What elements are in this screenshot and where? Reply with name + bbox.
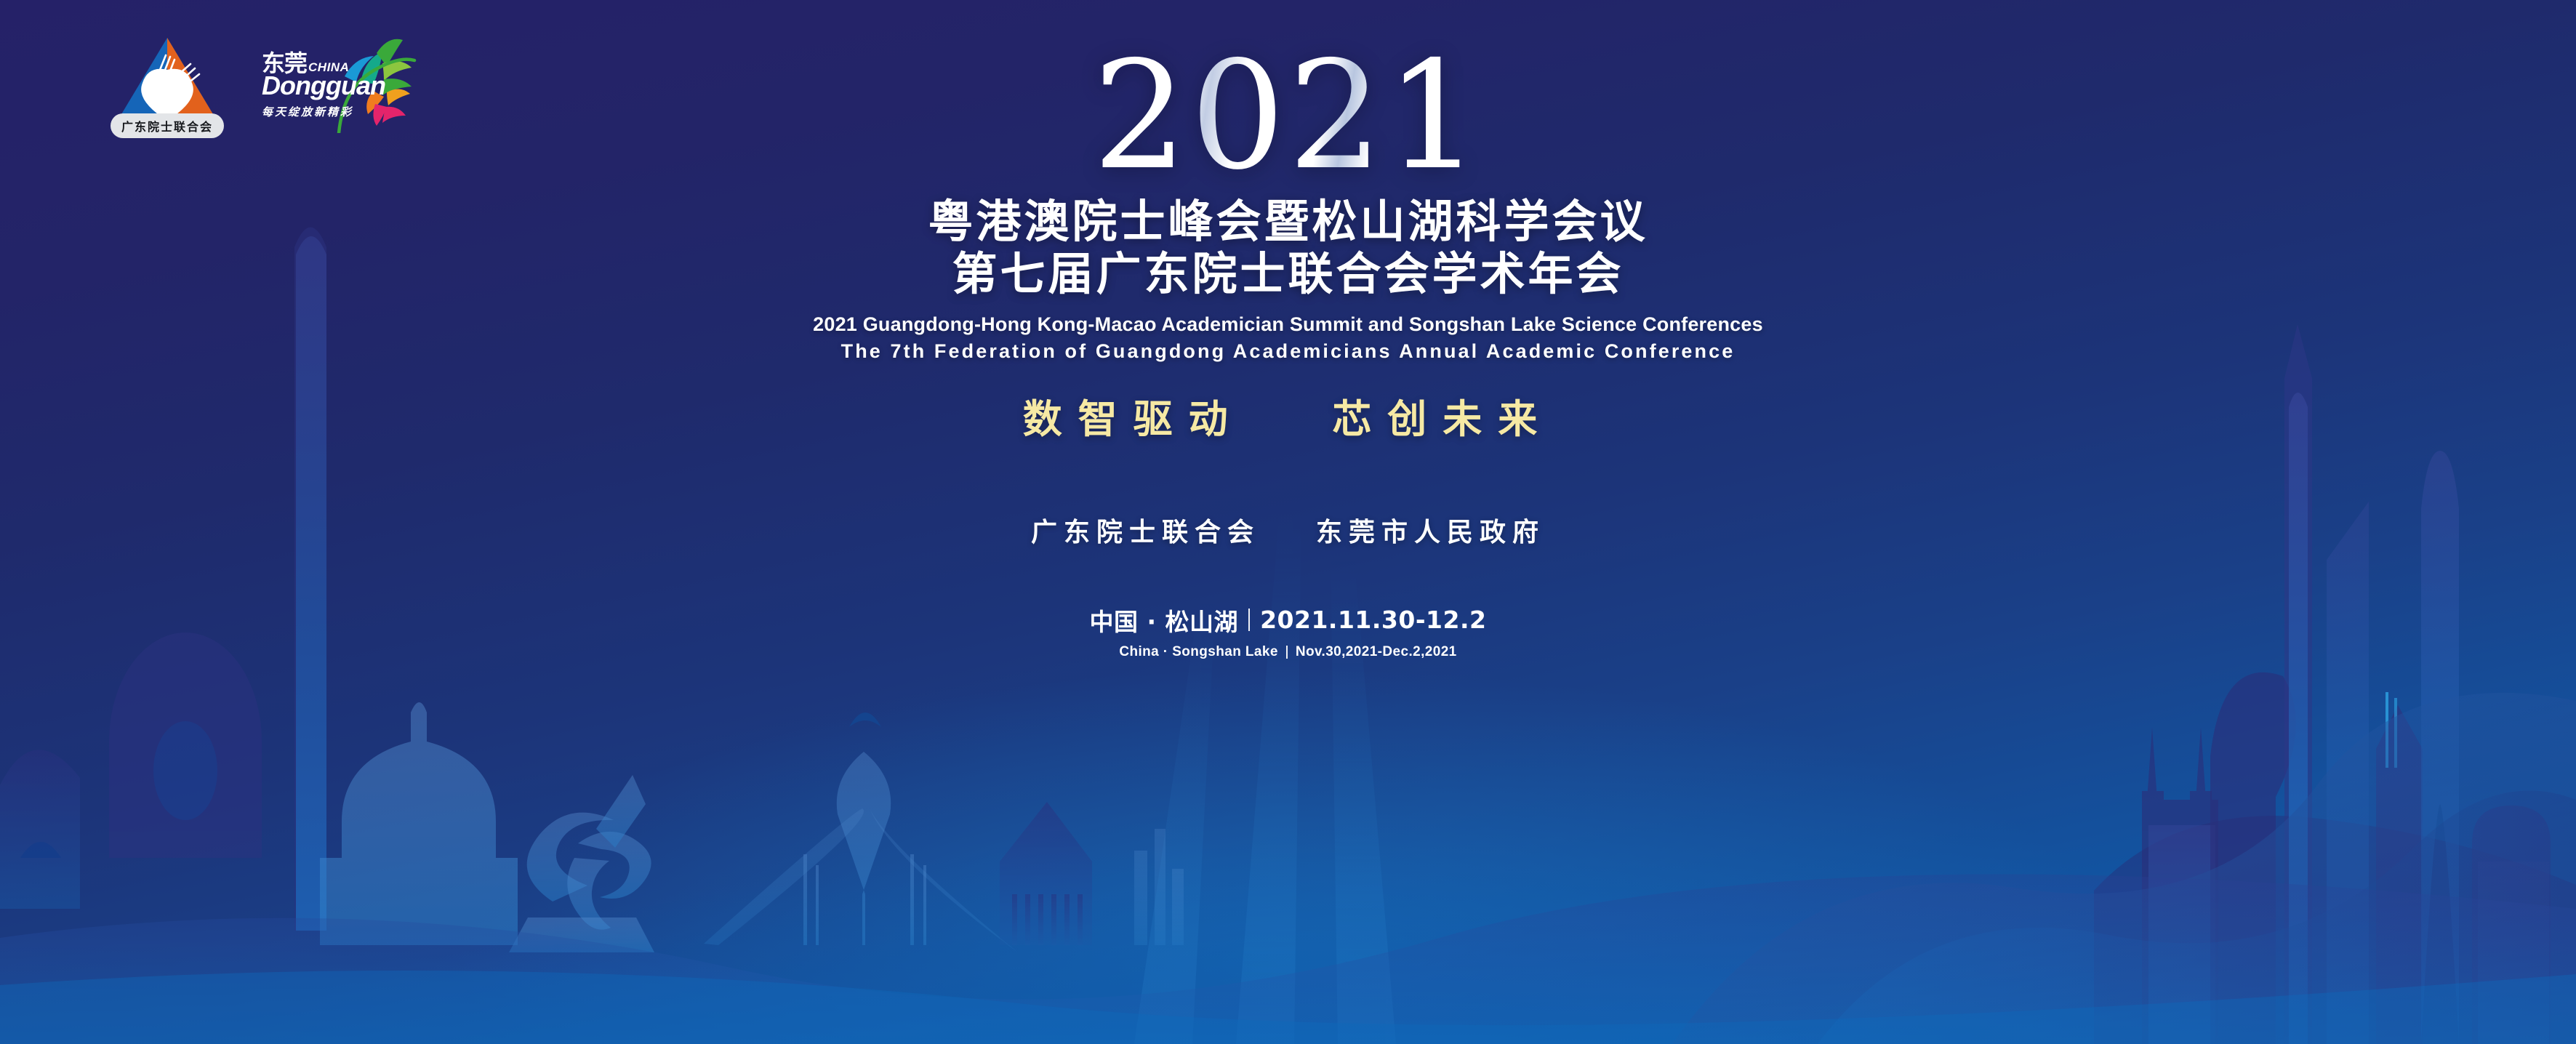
main-title-line2: 第七届广东院士联合会学术年会 — [928, 248, 1648, 300]
organizer-1: 广东院士联合会 — [1031, 518, 1260, 547]
slogan-part2: 芯创未来 — [1332, 396, 1553, 442]
venue-cn: 中国 · 松山湖 — [1090, 603, 1239, 638]
wave-shapes — [0, 693, 2576, 1044]
slogan-part1: 数智驱动 — [1023, 396, 1244, 442]
subtitle-en-line1: 2021 Guangdong-Hong Kong-Macao Academici… — [813, 313, 1763, 336]
main-title-cn: 粤港澳院士峰会暨松山湖科学会议 第七届广东院士联合会学术年会 — [928, 196, 1648, 300]
main-title-line1: 粤港澳院士峰会暨松山湖科学会议 — [928, 196, 1648, 248]
year-heading: 2021 — [1093, 45, 1484, 188]
organizer-2: 东莞市人民政府 — [1316, 518, 1545, 547]
venue-date-en: China · Songshan Lake Nov.30,2021-Dec.2,… — [1119, 644, 1456, 660]
venue-date-divider — [1248, 609, 1250, 631]
venue-date-divider-en — [1286, 646, 1288, 659]
banner-content: 2021 粤港澳院士峰会暨松山湖科学会议 第七届广东院士联合会学术年会 2021… — [0, 0, 2576, 660]
date-en: Nov.30,2021-Dec.2,2021 — [1296, 644, 1457, 660]
slogan: 数智驱动 芯创未来 — [1023, 387, 1554, 444]
venue-en: China · Songshan Lake — [1119, 644, 1278, 660]
date-cn: 2021.11.30-12.2 — [1260, 606, 1486, 634]
venue-date-cn: 中国 · 松山湖 2021.11.30-12.2 — [1090, 603, 1487, 638]
conference-banner: 广东院士联合会 东莞 CHINA Dongguan — [0, 0, 2576, 1044]
subtitle-en-line2: The 7th Federation of Guangdong Academic… — [841, 340, 1736, 363]
organizers: 广东院士联合会 东莞市人民政府 — [1031, 511, 1545, 549]
